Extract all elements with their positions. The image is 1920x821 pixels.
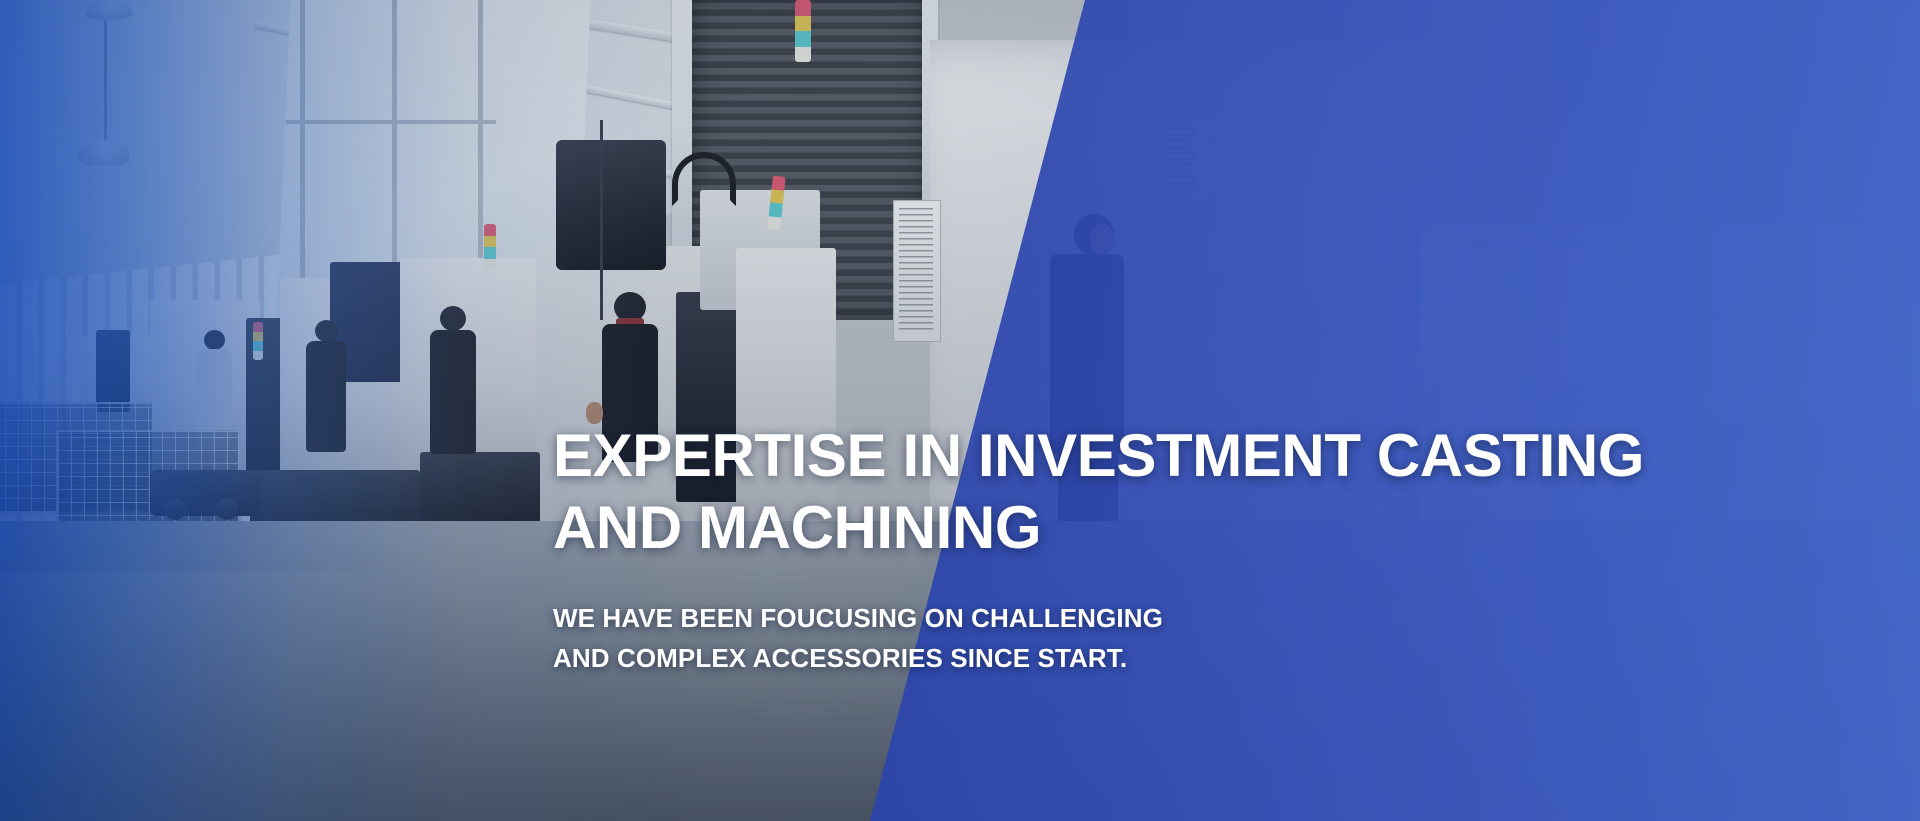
hero-copy: EXPERTISE IN INVESTMENT CASTING AND MACH…: [553, 420, 1653, 678]
hero-banner: EXPERTISE IN INVESTMENT CASTING AND MACH…: [0, 0, 1920, 821]
hero-headline-line1: EXPERTISE IN INVESTMENT CASTING: [553, 420, 1653, 492]
hero-subheading-line1: WE HAVE BEEN FOUCUSING ON CHALLENGING: [553, 598, 1653, 638]
hero-subheading-line2: AND COMPLEX ACCESSORIES SINCE START.: [553, 638, 1653, 678]
hero-headline-line2: AND MACHINING: [553, 492, 1653, 564]
